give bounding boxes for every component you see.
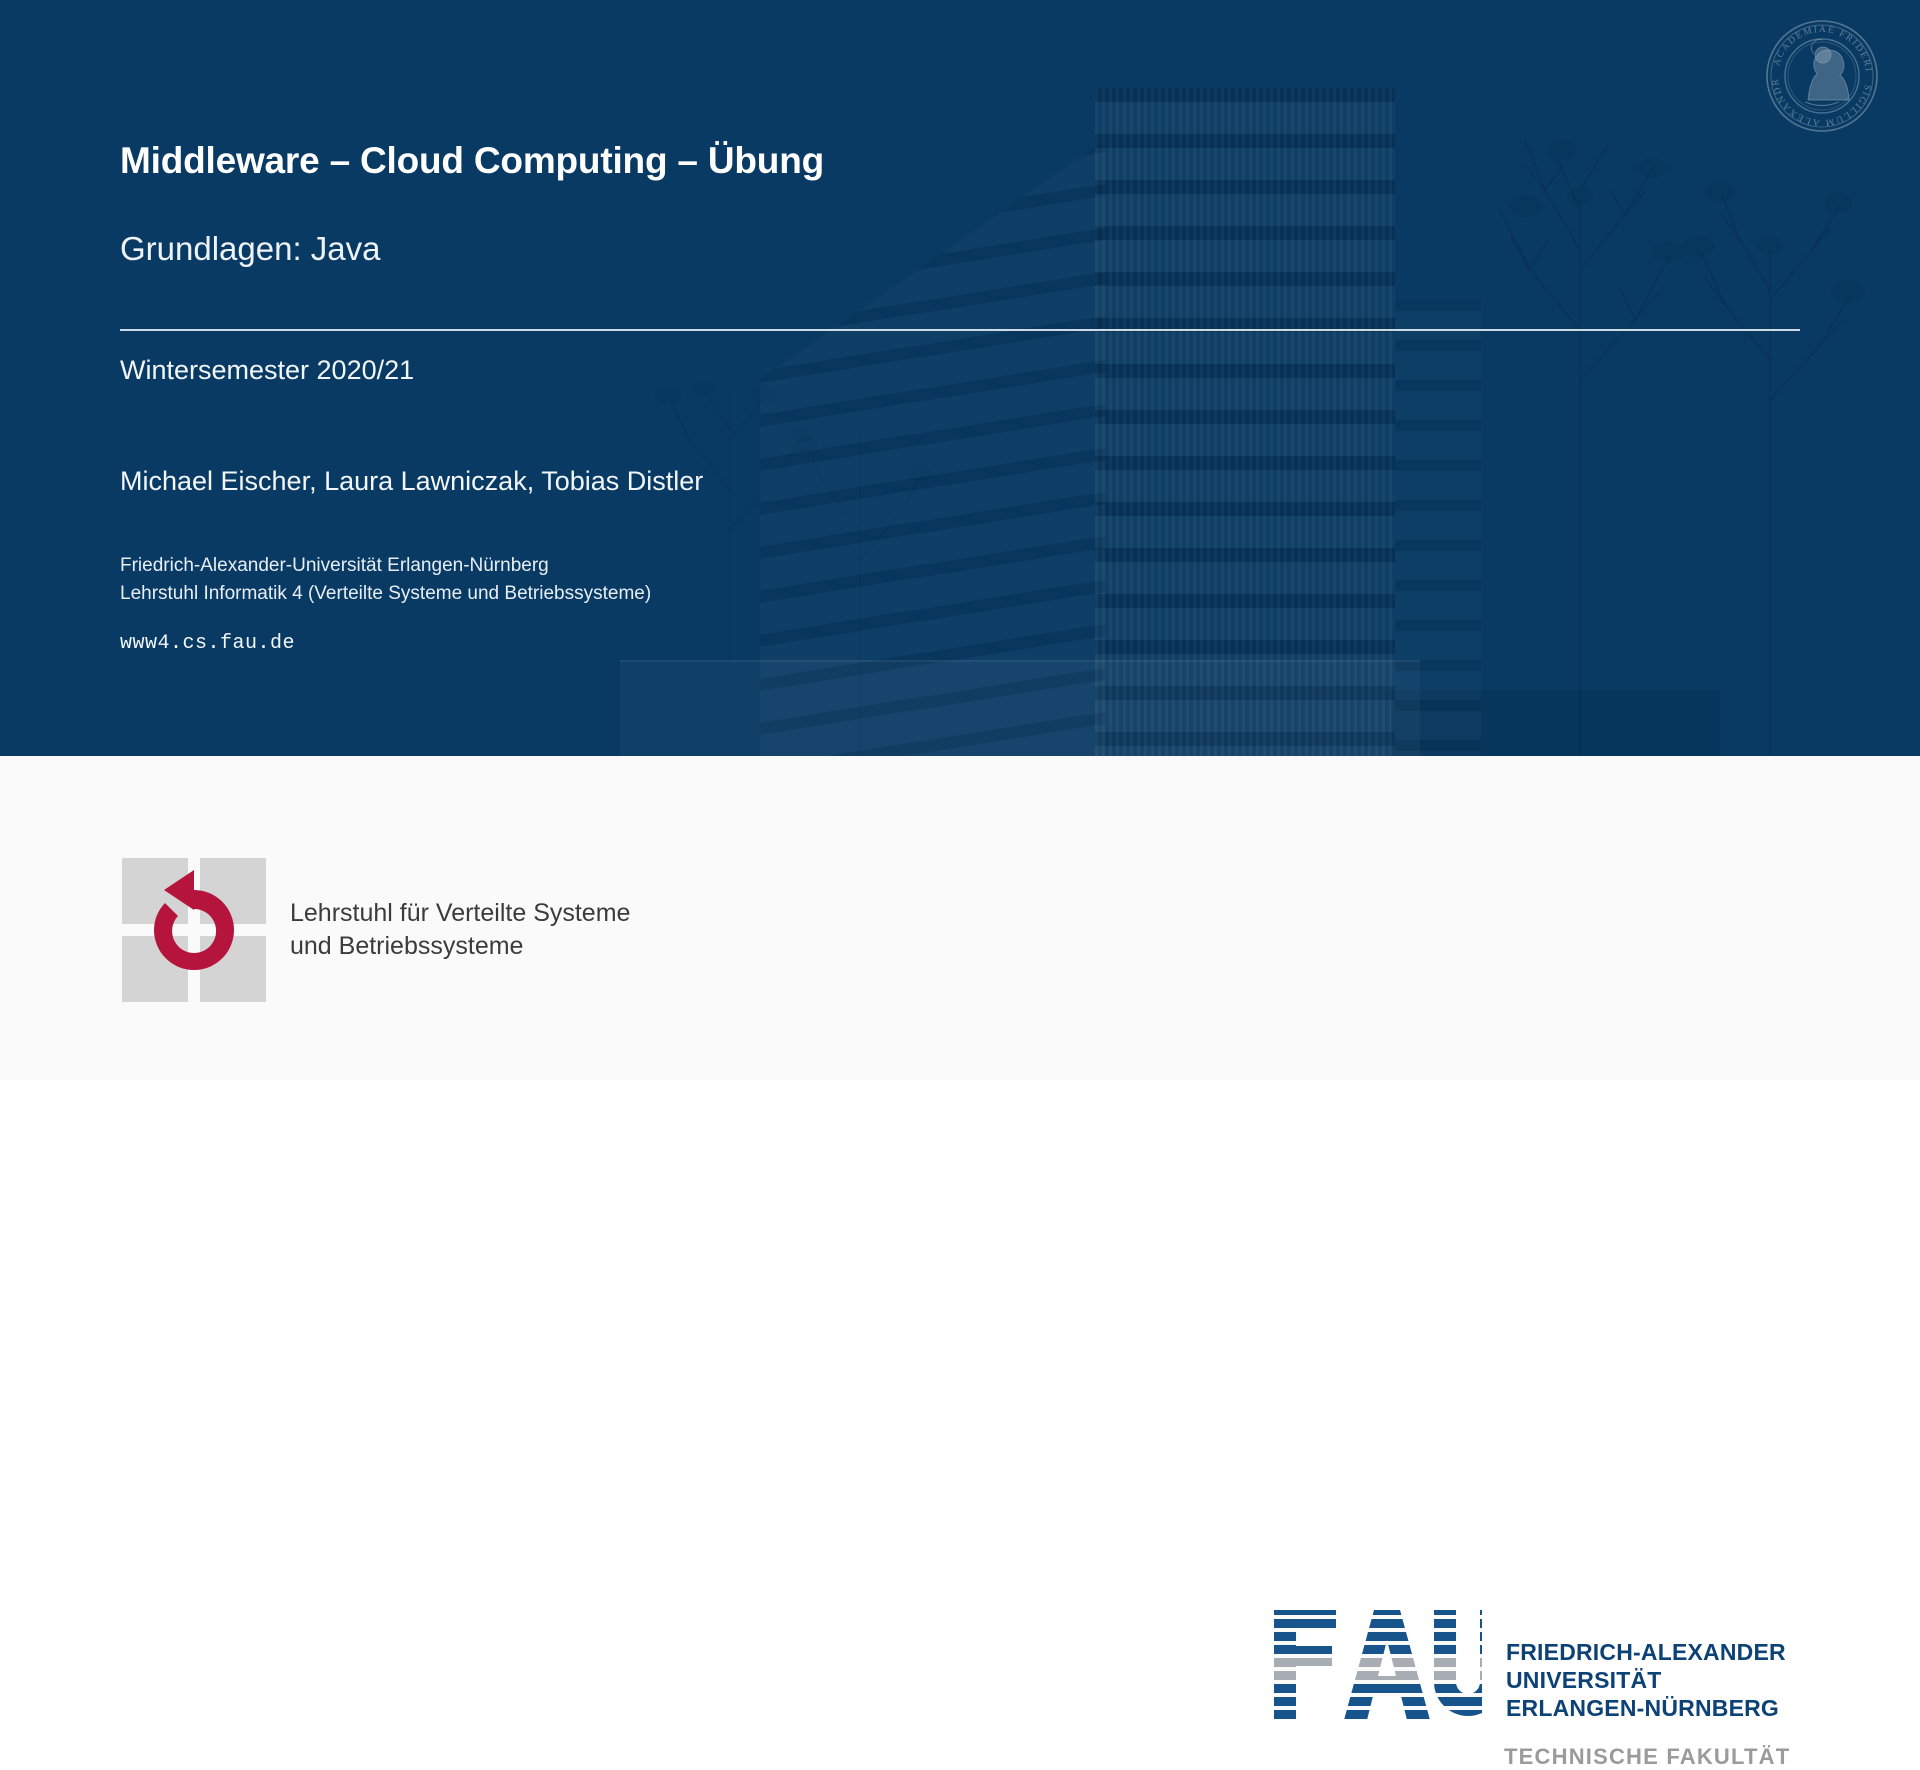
chair-logo-line1: Lehrstuhl für Verteilte Systeme bbox=[290, 897, 630, 930]
chair-logo-text: Lehrstuhl für Verteilte Systeme und Betr… bbox=[290, 897, 630, 963]
fau-wordmark-icon bbox=[1272, 1604, 1482, 1726]
chair-circular-arrow-icon bbox=[120, 856, 268, 1004]
fau-name-line3: ERLANGEN-NÜRNBERG bbox=[1506, 1694, 1786, 1722]
hero-banner: ACADEMIAE FRIDERICO SIGILLUM ALEXANDRINA… bbox=[0, 0, 1920, 756]
fau-faculty-label: TECHNISCHE FAKULTÄT bbox=[1504, 1744, 1832, 1770]
semester-label: Wintersemester 2020/21 bbox=[120, 355, 414, 386]
presentation-title-slide: ACADEMIAE FRIDERICO SIGILLUM ALEXANDRINA… bbox=[0, 0, 1920, 1080]
affiliation-chair: Lehrstuhl Informatik 4 (Verteilte System… bbox=[120, 580, 651, 608]
tree-graphic-left bbox=[620, 300, 950, 756]
fau-university-name: FRIEDRICH-ALEXANDER UNIVERSITÄT ERLANGEN… bbox=[1506, 1638, 1786, 1722]
university-seal-icon: ACADEMIAE FRIDERICO SIGILLUM ALEXANDRINA… bbox=[1764, 18, 1880, 134]
fau-logo: FRIEDRICH-ALEXANDER UNIVERSITÄT ERLANGEN… bbox=[1272, 1604, 1832, 1770]
slide-subtitle: Grundlagen: Java bbox=[120, 230, 381, 268]
building-side-graphic bbox=[1395, 300, 1481, 756]
fau-name-line2: UNIVERSITÄT bbox=[1506, 1666, 1786, 1694]
chair-logo-line2: und Betriebssysteme bbox=[290, 930, 630, 963]
affiliation-university: Friedrich-Alexander-Universität Erlangen… bbox=[120, 552, 651, 580]
title-divider bbox=[120, 329, 1800, 331]
website-url[interactable]: www4.cs.fau.de bbox=[120, 632, 295, 655]
slide-title: Middleware – Cloud Computing – Übung bbox=[120, 140, 824, 182]
building-tower-graphic bbox=[1095, 88, 1395, 756]
affiliation-block: Friedrich-Alexander-Universität Erlangen… bbox=[120, 552, 651, 608]
chair-logo: Lehrstuhl für Verteilte Systeme und Betr… bbox=[120, 856, 630, 1004]
building-podium-secondary-graphic bbox=[1390, 690, 1720, 756]
authors-label: Michael Eischer, Laura Lawniczak, Tobias… bbox=[120, 466, 703, 497]
fau-name-line1: FRIEDRICH-ALEXANDER bbox=[1506, 1638, 1786, 1666]
footer-bar: Lehrstuhl für Verteilte Systeme und Betr… bbox=[0, 756, 1920, 1080]
building-wing-graphic bbox=[760, 140, 1105, 756]
building-podium-graphic bbox=[620, 660, 1420, 756]
